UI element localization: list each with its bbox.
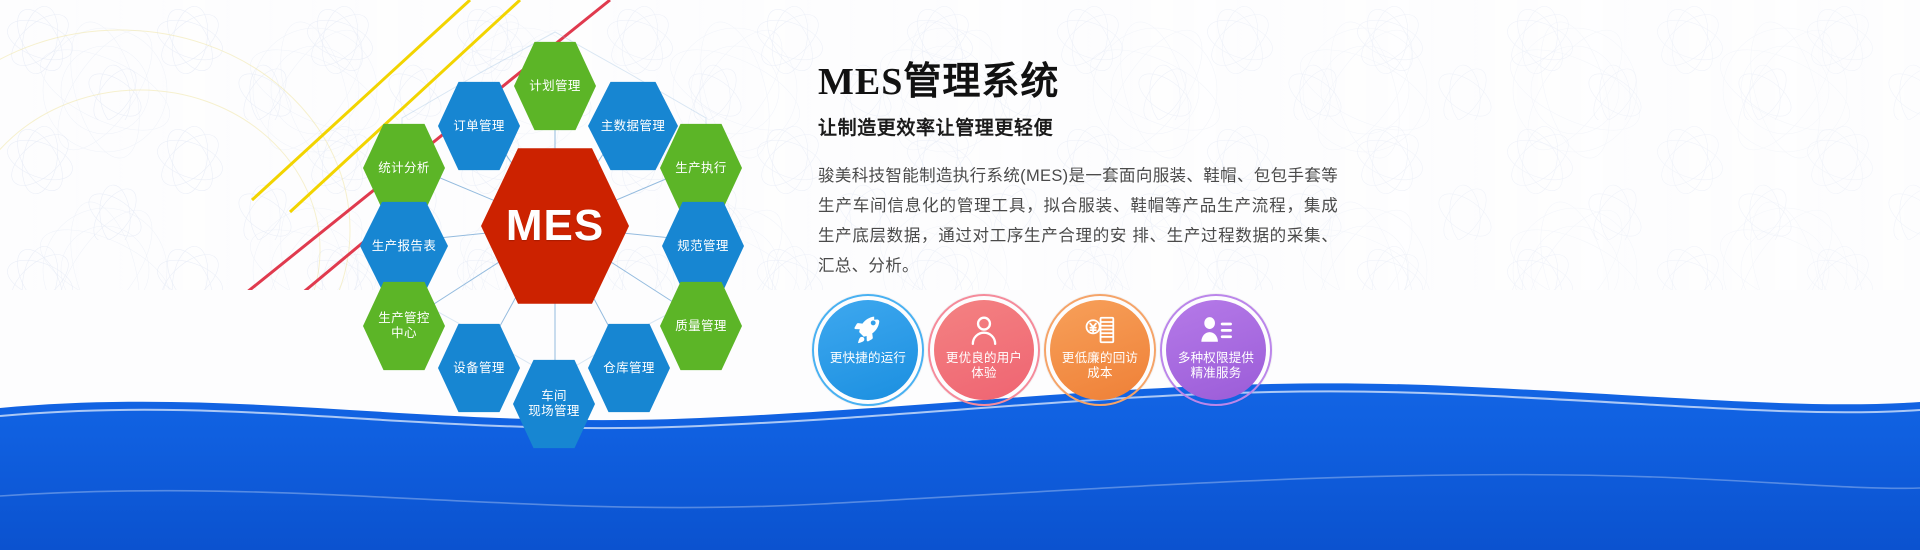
page-title: MES管理系统 [818, 62, 1338, 104]
badge-multi-permission-service[interactable]: 多种权限提供精准服务 [1166, 300, 1266, 400]
feature-badge-row: 更快捷的运行 更优良的用户体验 更低廉的回访成本 [818, 300, 1266, 400]
hex-node-label: 车间现场管理 [523, 389, 585, 419]
hex-node-label: 主数据管理 [596, 119, 671, 134]
badge-ring [928, 294, 1040, 406]
hero-description: 骏美科技智能制造执行系统(MES)是一套面向服装、鞋帽、包包手套等生产车间信息化… [818, 161, 1338, 281]
hex-node-label: 统计分析 [373, 161, 435, 176]
hex-node-label: 计划管理 [524, 79, 586, 94]
hex-node-label: 订单管理 [448, 119, 510, 134]
hex-node-label: 规范管理 [672, 239, 734, 254]
badge-lower-revisit-cost[interactable]: 更低廉的回访成本 [1050, 300, 1150, 400]
hex-node-label: 生产执行 [670, 161, 732, 176]
hex-center-label: MES [501, 200, 609, 252]
badge-better-user-experience[interactable]: 更优良的用户体验 [934, 300, 1034, 400]
badge-ring [1160, 294, 1272, 406]
hero-banner: MES 计划管理 订单管理 主数据管理 统计分析 生产执行 生产报告表 规范管理… [0, 0, 1920, 550]
hex-node-label: 生产报告表 [367, 239, 442, 254]
page-subtitle: 让制造更效率让管理更轻便 [818, 113, 1338, 140]
badge-ring [812, 294, 924, 406]
hex-node-label: 设备管理 [448, 361, 510, 376]
hex-node-label: 仓库管理 [598, 361, 660, 376]
badge-ring [1044, 294, 1156, 406]
hero-copy: MES管理系统 让制造更效率让管理更轻便 骏美科技智能制造执行系统(MES)是一… [818, 62, 1338, 281]
hex-node-label: 质量管理 [670, 319, 732, 334]
badge-faster-operation[interactable]: 更快捷的运行 [818, 300, 918, 400]
hex-node-label: 生产管控中心 [373, 311, 435, 341]
mes-hexagon-diagram: MES 计划管理 订单管理 主数据管理 统计分析 生产执行 生产报告表 规范管理… [330, 14, 780, 434]
